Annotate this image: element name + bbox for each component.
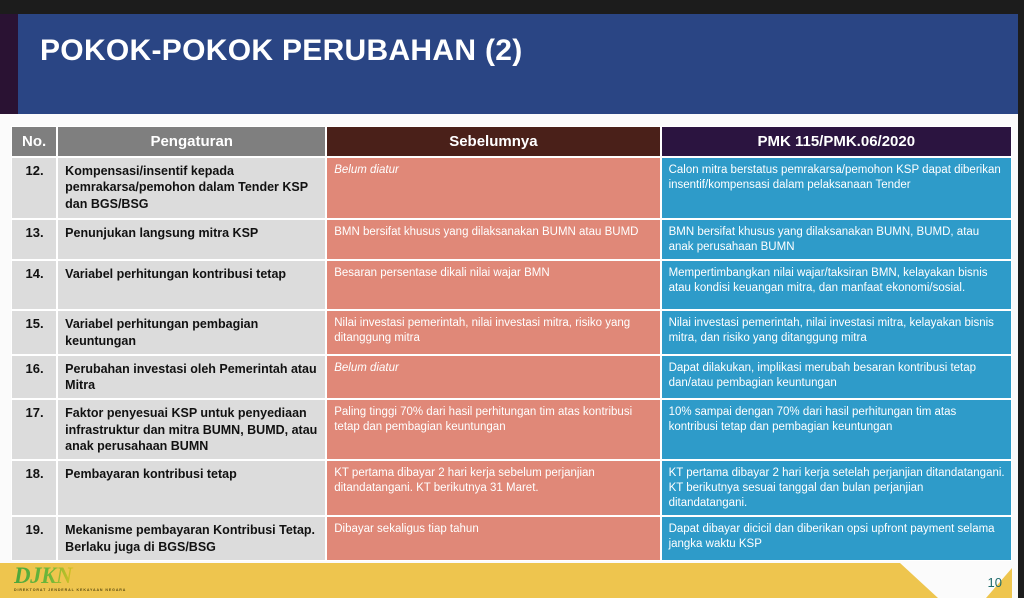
cell-pengaturan: Faktor penyesuai KSP untuk penyediaan in… [57,399,326,460]
cell-pmk: 10% sampai dengan 70% dari hasil perhitu… [661,399,1012,460]
header-left-accent-bar [0,14,18,114]
cell-pmk: Dapat dibayar dicicil dan diberikan opsi… [661,516,1012,561]
column-header-sebelumnya: Sebelumnya [326,126,660,157]
cell-pmk: Nilai investasi pemerintah, nilai invest… [661,310,1012,355]
cell-sebelumnya: Paling tinggi 70% dari hasil perhitungan… [326,399,660,460]
cell-no: 13. [11,219,57,260]
table-header-row: No. Pengaturan Sebelumnya PMK 115/PMK.06… [11,126,1012,157]
cell-no: 18. [11,460,57,516]
table-row: 16.Perubahan investasi oleh Pemerintah a… [11,355,1012,400]
slide-footer: DJKN DIREKTORAT JENDERAL KEKAYAAN NEGARA [0,563,1018,598]
table-row: 15.Variabel perhitungan pembagian keuntu… [11,310,1012,355]
cell-sebelumnya: BMN bersifat khusus yang dilaksanakan BU… [326,219,660,260]
cell-pmk: Dapat dilakukan, implikasi merubah besar… [661,355,1012,400]
page-number: 10 [988,575,1002,590]
right-letterbox-band [1018,0,1024,598]
cell-sebelumnya: Dibayar sekaligus tiap tahun [326,516,660,561]
cell-sebelumnya: Belum diatur [326,157,660,219]
table-row: 17.Faktor penyesuai KSP untuk penyediaan… [11,399,1012,460]
column-header-pmk: PMK 115/PMK.06/2020 [661,126,1012,157]
slide-header: POKOK-POKOK PERUBAHAN (2) [0,14,1018,114]
table-body: 12.Kompensasi/insentif kepada pemrakarsa… [11,157,1012,561]
cell-pengaturan: Variabel perhitungan kontribusi tetap [57,260,326,310]
cell-pmk: Mempertimbangkan nilai wajar/taksiran BM… [661,260,1012,310]
cell-sebelumnya: KT pertama dibayar 2 hari kerja sebelum … [326,460,660,516]
cell-pmk: KT pertama dibayar 2 hari kerja setelah … [661,460,1012,516]
cell-pengaturan: Pembayaran kontribusi tetap [57,460,326,516]
cell-no: 14. [11,260,57,310]
column-header-pengaturan: Pengaturan [57,126,326,157]
page-title: POKOK-POKOK PERUBAHAN (2) [40,34,523,68]
table-row: 14.Variabel perhitungan kontribusi tetap… [11,260,1012,310]
cell-pengaturan: Mekanisme pembayaran Kontribusi Tetap. B… [57,516,326,561]
djkn-logo: DJKN DIREKTORAT JENDERAL KEKAYAAN NEGARA [14,564,144,596]
cell-sebelumnya: Belum diatur [326,355,660,400]
cell-pengaturan: Kompensasi/insentif kepada pemrakarsa/pe… [57,157,326,219]
table-row: 13.Penunjukan langsung mitra KSPBMN bers… [11,219,1012,260]
cell-no: 17. [11,399,57,460]
slide: POKOK-POKOK PERUBAHAN (2) No. Pengaturan… [0,0,1024,598]
djkn-logo-wordmark: DJKN [14,564,144,587]
cell-no: 16. [11,355,57,400]
comparison-table: No. Pengaturan Sebelumnya PMK 115/PMK.06… [11,126,1012,561]
cell-pengaturan: Perubahan investasi oleh Pemerintah atau… [57,355,326,400]
cell-no: 15. [11,310,57,355]
table-row: 19.Mekanisme pembayaran Kontribusi Tetap… [11,516,1012,561]
column-header-no: No. [11,126,57,157]
cell-no: 12. [11,157,57,219]
table-row: 18.Pembayaran kontribusi tetapKT pertama… [11,460,1012,516]
cell-pengaturan: Penunjukan langsung mitra KSP [57,219,326,260]
djkn-logo-subtitle: DIREKTORAT JENDERAL KEKAYAAN NEGARA [14,588,144,592]
table-row: 12.Kompensasi/insentif kepada pemrakarsa… [11,157,1012,219]
cell-pengaturan: Variabel perhitungan pembagian keuntunga… [57,310,326,355]
cell-pmk: Calon mitra berstatus pemrakarsa/pemohon… [661,157,1012,219]
top-letterbox-band [0,0,1024,14]
cell-sebelumnya: Besaran persentase dikali nilai wajar BM… [326,260,660,310]
cell-no: 19. [11,516,57,561]
cell-pmk: BMN bersifat khusus yang dilaksanakan BU… [661,219,1012,260]
cell-sebelumnya: Nilai investasi pemerintah, nilai invest… [326,310,660,355]
